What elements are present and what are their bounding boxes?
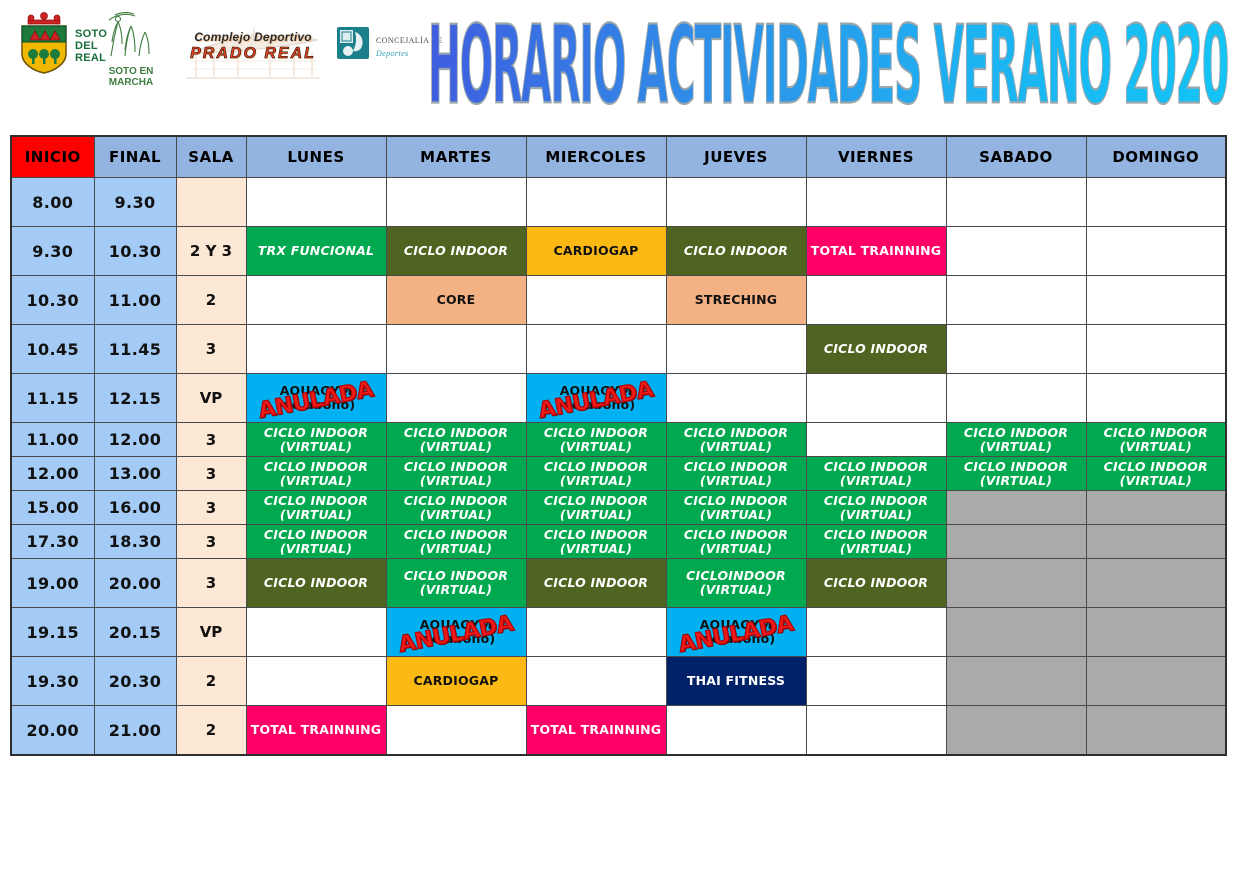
- activity-name: AQUAGYM: [420, 618, 493, 632]
- activities-schedule-table: INICIO FINAL SALA LUNES MARTES MIERCOLES…: [10, 135, 1227, 756]
- header-row: INICIO FINAL SALA LUNES MARTES MIERCOLES…: [11, 136, 1226, 178]
- activity-cell-empty: [246, 608, 386, 657]
- activity-cell-empty: [946, 178, 1086, 227]
- logo-prado-real-line1: Complejo Deportivo: [178, 30, 328, 44]
- activity-cell-empty: [246, 276, 386, 325]
- activity-cell-cancelled[interactable]: AQUAGYM(de abono)ANULADA: [386, 608, 526, 657]
- table-body: 8.009.309.3010.302 Y 3TRX FUNCIONALCICLO…: [11, 178, 1226, 756]
- activity-cell-empty: [806, 608, 946, 657]
- activity-cell[interactable]: CICLO INDOOR (VIRTUAL): [946, 423, 1086, 457]
- activity-cell-closed: [946, 657, 1086, 706]
- cell-sala: 2 Y 3: [176, 227, 246, 276]
- svg-text:HORARIO ACTIVIDADES VERANO 202: HORARIO ACTIVIDADES VERANO 2020: [428, 6, 1228, 116]
- activity-cell-empty: [386, 178, 526, 227]
- activity-cell-empty: [386, 374, 526, 423]
- activity-cell[interactable]: CARDIOGAP: [526, 227, 666, 276]
- activity-cell-empty: [246, 657, 386, 706]
- schedule-row: 15.0016.003CICLO INDOOR (VIRTUAL)CICLO I…: [11, 491, 1226, 525]
- activity-cell[interactable]: CICLO INDOOR (VIRTUAL): [246, 423, 386, 457]
- cell-inicio: 15.00: [11, 491, 94, 525]
- activity-cell-empty: [526, 178, 666, 227]
- activity-cell[interactable]: CICLO INDOOR (VIRTUAL): [526, 423, 666, 457]
- activity-cell-cancelled[interactable]: AQUAGYM(de abono)ANULADA: [526, 374, 666, 423]
- cell-sala: 3: [176, 423, 246, 457]
- activity-cell-closed: [946, 608, 1086, 657]
- activity-cell-empty: [806, 657, 946, 706]
- cell-final: 20.30: [94, 657, 176, 706]
- cell-final: 20.15: [94, 608, 176, 657]
- activity-cell-empty: [246, 178, 386, 227]
- activity-cell[interactable]: CORE: [386, 276, 526, 325]
- schedule-row: 19.0020.003CICLO INDOORCICLO INDOOR (VIR…: [11, 559, 1226, 608]
- activity-cell-empty: [666, 178, 806, 227]
- activity-name: AQUAGYM: [560, 384, 633, 398]
- activity-cell[interactable]: CICLO INDOOR: [666, 227, 806, 276]
- cell-inicio: 19.00: [11, 559, 94, 608]
- activity-cell[interactable]: CICLO INDOOR (VIRTUAL): [386, 559, 526, 608]
- schedule-row: 10.4511.453CICLO INDOOR: [11, 325, 1226, 374]
- cell-sala: 3: [176, 491, 246, 525]
- cell-final: 18.30: [94, 525, 176, 559]
- cell-inicio: 8.00: [11, 178, 94, 227]
- cell-inicio: 11.15: [11, 374, 94, 423]
- activity-cell[interactable]: CICLO INDOOR (VIRTUAL): [806, 457, 946, 491]
- cell-inicio: 19.30: [11, 657, 94, 706]
- activity-cell[interactable]: CICLO INDOOR: [526, 559, 666, 608]
- activity-cell-empty: [1086, 374, 1226, 423]
- cell-final: 9.30: [94, 178, 176, 227]
- column-header-inicio: INICIO: [11, 136, 94, 178]
- cancelled-activity-content: AQUAGYM(de abono)ANULADA: [669, 608, 804, 656]
- activity-cell-empty: [946, 276, 1086, 325]
- activity-name: AQUAGYM: [280, 384, 353, 398]
- activity-cell[interactable]: CICLO INDOOR (VIRTUAL): [526, 491, 666, 525]
- column-header-final: FINAL: [94, 136, 176, 178]
- cell-final: 21.00: [94, 706, 176, 756]
- activity-subnote: (de abono): [697, 632, 776, 646]
- activity-cell[interactable]: TRX FUNCIONAL: [246, 227, 386, 276]
- cell-sala: VP: [176, 608, 246, 657]
- activity-cell[interactable]: CICLO INDOOR (VIRTUAL): [946, 457, 1086, 491]
- cell-sala: 3: [176, 325, 246, 374]
- activity-cell-empty: [946, 227, 1086, 276]
- activity-cell[interactable]: TOTAL TRAINNING: [526, 706, 666, 756]
- cell-final: 13.00: [94, 457, 176, 491]
- activity-subnote: (de abono): [277, 398, 356, 412]
- logo-soto-del-real-text: SOTO DEL REAL: [75, 28, 107, 64]
- cell-final: 11.45: [94, 325, 176, 374]
- activity-cell[interactable]: CICLO INDOOR (VIRTUAL): [1086, 423, 1226, 457]
- logo-soto-del-real: SOTO DEL REAL: [18, 12, 107, 79]
- cell-sala: 3: [176, 525, 246, 559]
- activity-cell-closed: [946, 706, 1086, 756]
- cell-sala: 3: [176, 559, 246, 608]
- table-header: INICIO FINAL SALA LUNES MARTES MIERCOLES…: [11, 136, 1226, 178]
- activity-cell[interactable]: CICLO INDOOR (VIRTUAL): [246, 457, 386, 491]
- activity-cell-empty: [946, 374, 1086, 423]
- activity-cell-empty: [1086, 178, 1226, 227]
- cell-inicio: 11.00: [11, 423, 94, 457]
- column-header-miercoles: MIERCOLES: [526, 136, 666, 178]
- activity-cell-empty: [526, 325, 666, 374]
- activity-cell[interactable]: CICLO INDOOR (VIRTUAL): [246, 525, 386, 559]
- activity-cell-empty: [666, 706, 806, 756]
- activity-cell-closed: [1086, 525, 1226, 559]
- activity-cell-empty: [666, 374, 806, 423]
- activity-cell[interactable]: CICLO INDOOR (VIRTUAL): [666, 457, 806, 491]
- cell-final: 10.30: [94, 227, 176, 276]
- schedule-table-container: INICIO FINAL SALA LUNES MARTES MIERCOLES…: [10, 135, 1225, 756]
- schedule-row: 9.3010.302 Y 3TRX FUNCIONALCICLO INDOORC…: [11, 227, 1226, 276]
- activity-cell-empty: [806, 423, 946, 457]
- cell-sala: [176, 178, 246, 227]
- schedule-row: 17.3018.303CICLO INDOOR (VIRTUAL)CICLO I…: [11, 525, 1226, 559]
- activity-cell-empty: [526, 608, 666, 657]
- column-header-jueves: JUEVES: [666, 136, 806, 178]
- activity-cell[interactable]: CICLO INDOOR: [806, 325, 946, 374]
- activity-cell[interactable]: STRECHING: [666, 276, 806, 325]
- activity-name: AQUAGYM: [700, 618, 773, 632]
- cell-sala: VP: [176, 374, 246, 423]
- activity-cell[interactable]: TOTAL TRAINNING: [246, 706, 386, 756]
- column-header-lunes: LUNES: [246, 136, 386, 178]
- activity-cell[interactable]: CICLOINDOOR (VIRTUAL): [666, 559, 806, 608]
- cell-inicio: 20.00: [11, 706, 94, 756]
- nature-sketch-icon: [105, 47, 157, 64]
- cancelled-activity-content: AQUAGYM(de abono)ANULADA: [249, 374, 384, 422]
- cell-sala: 3: [176, 457, 246, 491]
- activity-cell[interactable]: CICLO INDOOR (VIRTUAL): [1086, 457, 1226, 491]
- cell-sala: 2: [176, 276, 246, 325]
- activity-cell-empty: [1086, 227, 1226, 276]
- activity-cell-closed: [1086, 491, 1226, 525]
- column-header-domingo: DOMINGO: [1086, 136, 1226, 178]
- column-header-sala: SALA: [176, 136, 246, 178]
- activity-cell-cancelled[interactable]: AQUAGYM(de abono)ANULADA: [666, 608, 806, 657]
- cell-final: 11.00: [94, 276, 176, 325]
- schedule-row: 8.009.30: [11, 178, 1226, 227]
- activity-cell-closed: [946, 491, 1086, 525]
- activity-cell-closed: [1086, 706, 1226, 756]
- activity-cell-empty: [946, 325, 1086, 374]
- activity-cell-cancelled[interactable]: AQUAGYM(de abono)ANULADA: [246, 374, 386, 423]
- activity-cell-empty: [666, 325, 806, 374]
- logo-concejalia-line2: Deportes: [376, 49, 409, 58]
- activity-cell[interactable]: CICLO INDOOR (VIRTUAL): [386, 457, 526, 491]
- schedule-row: 12.0013.003CICLO INDOOR (VIRTUAL)CICLO I…: [11, 457, 1226, 491]
- activity-cell-empty: [806, 374, 946, 423]
- activity-cell[interactable]: CICLO INDOOR (VIRTUAL): [666, 491, 806, 525]
- cancelled-activity-content: AQUAGYM(de abono)ANULADA: [529, 374, 664, 422]
- cancelled-activity-content: AQUAGYM(de abono)ANULADA: [389, 608, 524, 656]
- logo-soto-en-marcha-text: SOTO EN MARCHA: [105, 66, 157, 88]
- activity-cell-closed: [1086, 559, 1226, 608]
- schedule-row: 19.1520.15VPAQUAGYM(de abono)ANULADAAQUA…: [11, 608, 1226, 657]
- logo-prado-real-line2: PRADO REAL: [178, 45, 328, 63]
- activity-subnote: (de abono): [557, 398, 636, 412]
- activity-cell-empty: [806, 706, 946, 756]
- column-header-sabado: SABADO: [946, 136, 1086, 178]
- cell-inicio: 10.45: [11, 325, 94, 374]
- activity-cell-empty: [1086, 325, 1226, 374]
- cell-sala: 2: [176, 657, 246, 706]
- activity-cell-empty: [806, 178, 946, 227]
- page-title: HORARIO ACTIVIDADES VERANO 2020: [424, 6, 1232, 116]
- activity-cell[interactable]: CARDIOGAP: [386, 657, 526, 706]
- activity-cell-empty: [246, 325, 386, 374]
- schedule-row: 20.0021.002TOTAL TRAINNINGTOTAL TRAINNIN…: [11, 706, 1226, 756]
- schedule-row: 11.0012.003CICLO INDOOR (VIRTUAL)CICLO I…: [11, 423, 1226, 457]
- activity-cell-empty: [386, 706, 526, 756]
- activity-cell[interactable]: CICLO INDOOR (VIRTUAL): [526, 457, 666, 491]
- cell-inicio: 17.30: [11, 525, 94, 559]
- cell-inicio: 10.30: [11, 276, 94, 325]
- activity-cell-empty: [526, 276, 666, 325]
- coat-of-arms-icon: [18, 12, 70, 79]
- activity-cell-closed: [946, 559, 1086, 608]
- activity-cell-closed: [946, 525, 1086, 559]
- activity-subnote: (de abono): [417, 632, 496, 646]
- logo-prado-real: Complejo Deportivo PRADO REAL: [178, 14, 328, 63]
- cell-final: 16.00: [94, 491, 176, 525]
- activity-cell-empty: [526, 657, 666, 706]
- activity-cell[interactable]: CICLO INDOOR (VIRTUAL): [526, 525, 666, 559]
- activity-cell[interactable]: CICLO INDOOR (VIRTUAL): [806, 491, 946, 525]
- cell-inicio: 19.15: [11, 608, 94, 657]
- activity-cell[interactable]: THAI FITNESS: [666, 657, 806, 706]
- activity-cell-closed: [1086, 657, 1226, 706]
- cell-inicio: 9.30: [11, 227, 94, 276]
- schedule-row: 10.3011.002CORESTRECHING: [11, 276, 1226, 325]
- concejalia-emblem-icon: [336, 26, 370, 65]
- activity-cell[interactable]: CICLO INDOOR (VIRTUAL): [386, 423, 526, 457]
- cell-inicio: 12.00: [11, 457, 94, 491]
- logo-soto-en-marcha: SOTO EN MARCHA: [105, 10, 157, 88]
- activity-cell-empty: [1086, 276, 1226, 325]
- activity-cell[interactable]: CICLO INDOOR (VIRTUAL): [386, 491, 526, 525]
- activity-cell[interactable]: CICLO INDOOR: [386, 227, 526, 276]
- schedule-row: 19.3020.302CARDIOGAPTHAI FITNESS: [11, 657, 1226, 706]
- activity-cell[interactable]: CICLO INDOOR (VIRTUAL): [386, 525, 526, 559]
- cell-final: 20.00: [94, 559, 176, 608]
- activity-cell[interactable]: CICLO INDOOR (VIRTUAL): [806, 525, 946, 559]
- activity-cell[interactable]: TOTAL TRAINNING: [806, 227, 946, 276]
- activity-cell[interactable]: CICLO INDOOR (VIRTUAL): [666, 423, 806, 457]
- cell-sala: 2: [176, 706, 246, 756]
- cell-final: 12.15: [94, 374, 176, 423]
- column-header-viernes: VIERNES: [806, 136, 946, 178]
- activity-cell-empty: [806, 276, 946, 325]
- cell-final: 12.00: [94, 423, 176, 457]
- page-header: SOTO DEL REAL SOTO EN MARCHA: [0, 0, 1235, 125]
- activity-cell[interactable]: CICLO INDOOR (VIRTUAL): [666, 525, 806, 559]
- activity-cell[interactable]: CICLO INDOOR: [806, 559, 946, 608]
- schedule-row: 11.1512.15VPAQUAGYM(de abono)ANULADAAQUA…: [11, 374, 1226, 423]
- activity-cell[interactable]: CICLO INDOOR: [246, 559, 386, 608]
- activity-cell[interactable]: CICLO INDOOR (VIRTUAL): [246, 491, 386, 525]
- column-header-martes: MARTES: [386, 136, 526, 178]
- activity-cell-closed: [1086, 608, 1226, 657]
- activity-cell-empty: [386, 325, 526, 374]
